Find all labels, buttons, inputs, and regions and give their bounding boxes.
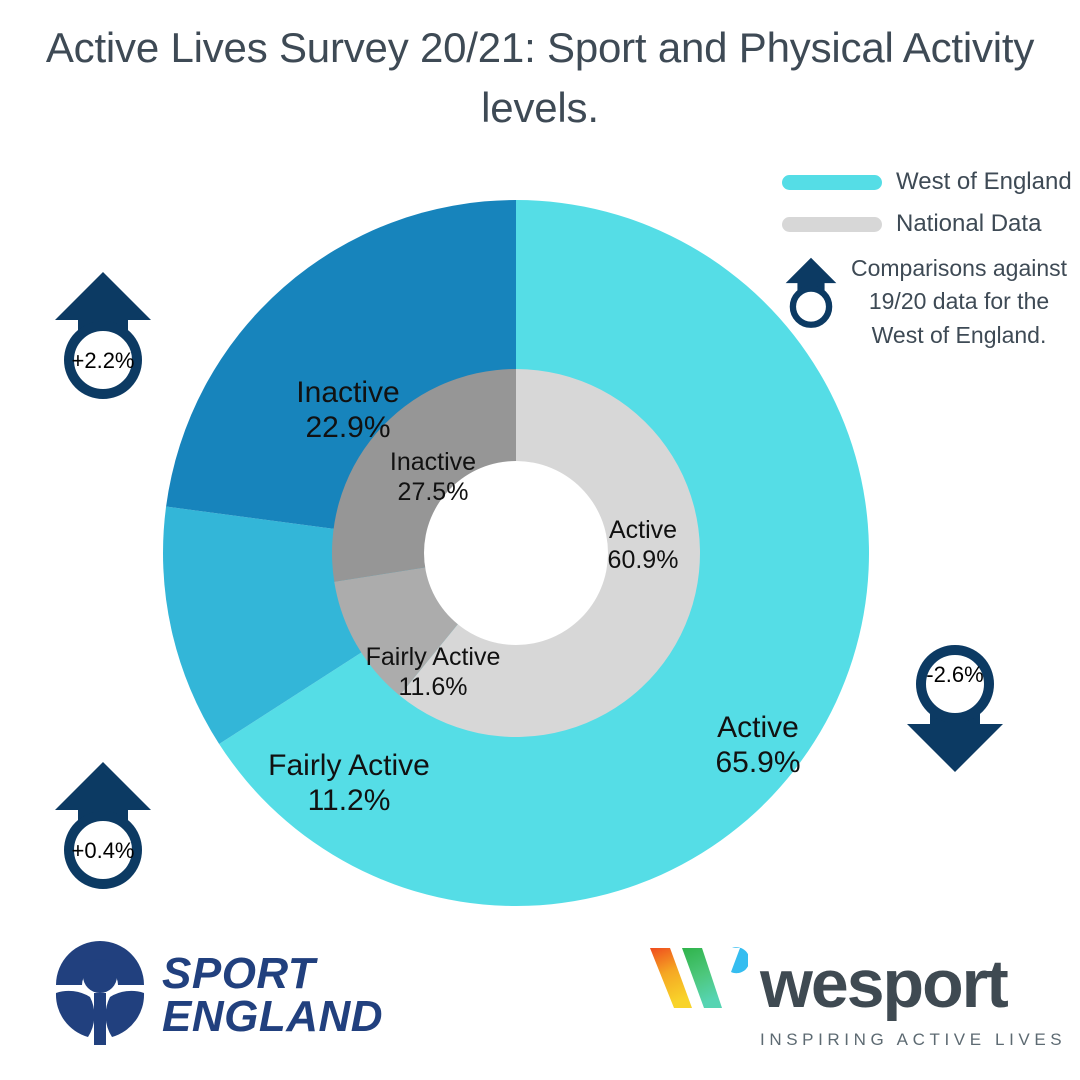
sport-england-logo[interactable]: SPORT ENGLAND	[48, 940, 408, 1050]
wesport-logo[interactable]: wesport INSPIRING ACTIVE LIVES	[648, 938, 1048, 1060]
down-arrow-circle-icon	[900, 640, 1010, 776]
wesport-wordmark: wesport	[760, 950, 1007, 1018]
sport-england-line-2: ENGLAND	[162, 995, 383, 1038]
comparison-value-fairly-active: +0.4%	[48, 838, 158, 864]
inner-label-active: Active 60.9%	[553, 516, 733, 575]
sport-england-wordmark: SPORT ENGLAND	[162, 952, 383, 1038]
comparison-badge-inactive[interactable]: +2.2%	[48, 268, 158, 404]
up-arrow-circle-icon	[48, 268, 158, 404]
sport-england-line-1: SPORT	[162, 952, 383, 995]
comparison-value-active: -2.6%	[900, 662, 1010, 688]
legend-note: Comparisons against 19/20 data for the W…	[782, 252, 1080, 352]
comparison-badge-active[interactable]: -2.6%	[900, 640, 1010, 776]
pie-chart: Active 65.9% Fairly Active 11.2% Inactiv…	[163, 200, 869, 906]
comparison-value-inactive: +2.2%	[48, 348, 158, 374]
outer-label-fairly-active: Fairly Active 11.2%	[219, 748, 479, 819]
comparison-badge-fairly-active[interactable]: +0.4%	[48, 758, 158, 894]
chart-legend: West of England National Data Comparison…	[782, 168, 1080, 352]
sport-england-figure-icon	[48, 941, 152, 1050]
legend-label-national-data: National Data	[896, 210, 1041, 238]
legend-label-west-of-england: West of England	[896, 168, 1072, 196]
legend-item-west-of-england[interactable]: West of England	[782, 168, 1080, 196]
legend-item-national-data[interactable]: National Data	[782, 210, 1080, 238]
wesport-tagline: INSPIRING ACTIVE LIVES	[760, 1030, 1066, 1050]
outer-label-active: Active 65.9%	[668, 710, 848, 781]
up-arrow-circle-icon	[782, 256, 848, 337]
inner-label-fairly-active: Fairly Active 11.6%	[323, 643, 543, 702]
legend-swatch-national-data	[782, 217, 882, 232]
legend-swatch-west-of-england	[782, 175, 882, 190]
outer-label-inactive: Inactive 22.9%	[218, 375, 478, 446]
page-title: Active Lives Survey 20/21: Sport and Phy…	[40, 18, 1040, 137]
inner-label-inactive: Inactive 27.5%	[343, 448, 523, 507]
legend-note-text: Comparisons against 19/20 data for the W…	[848, 252, 1070, 352]
up-arrow-circle-icon	[48, 758, 158, 894]
